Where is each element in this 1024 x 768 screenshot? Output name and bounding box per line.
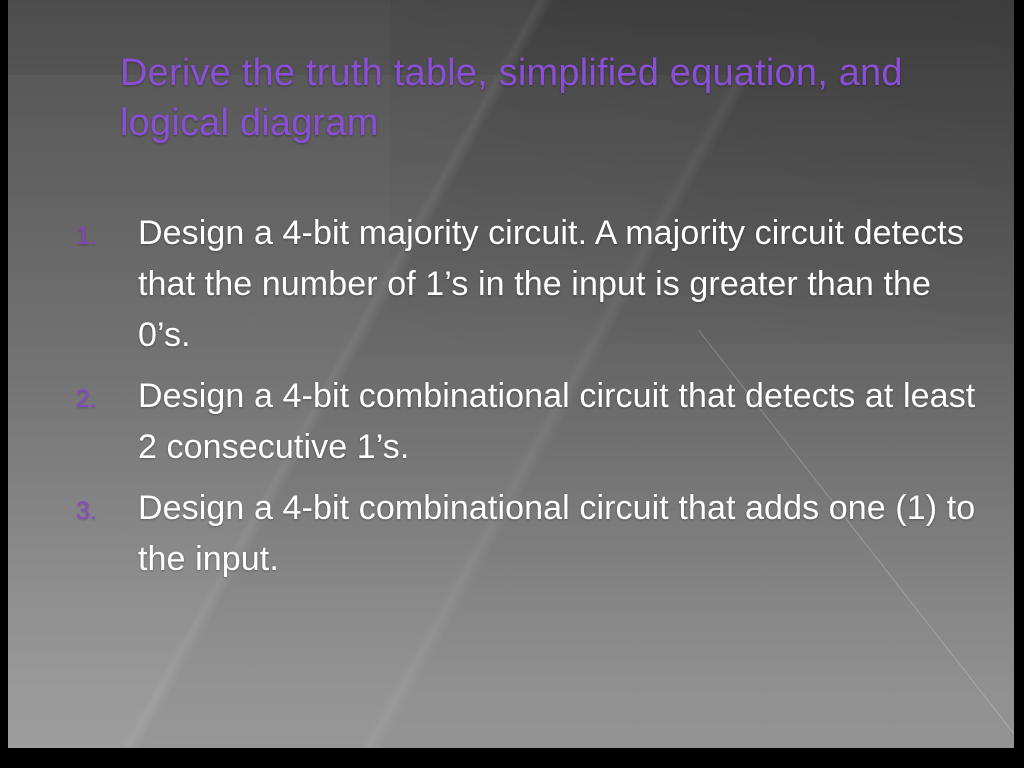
list-item: 3. Design a 4-bit combinational circuit … — [70, 483, 980, 585]
slide-frame: Derive the truth table, simplified equat… — [0, 0, 1024, 768]
list-item: 1. Design a 4-bit majority circuit. A ma… — [70, 208, 980, 361]
list-item-marker: 1. — [70, 208, 138, 249]
slide-content: Derive the truth table, simplified equat… — [8, 0, 1014, 748]
task-list: 1. Design a 4-bit majority circuit. A ma… — [70, 208, 980, 595]
list-item-text: Design a 4-bit combinational circuit tha… — [138, 371, 980, 473]
list-item-text: Design a 4-bit majority circuit. A major… — [138, 208, 980, 361]
list-item-text: Design a 4-bit combinational circuit tha… — [138, 483, 980, 585]
slide-title: Derive the truth table, simplified equat… — [120, 48, 940, 148]
list-item-marker: 3. — [70, 483, 138, 524]
slide-canvas: Derive the truth table, simplified equat… — [8, 0, 1014, 748]
list-item-marker: 2. — [70, 371, 138, 412]
list-item: 2. Design a 4-bit combinational circuit … — [70, 371, 980, 473]
